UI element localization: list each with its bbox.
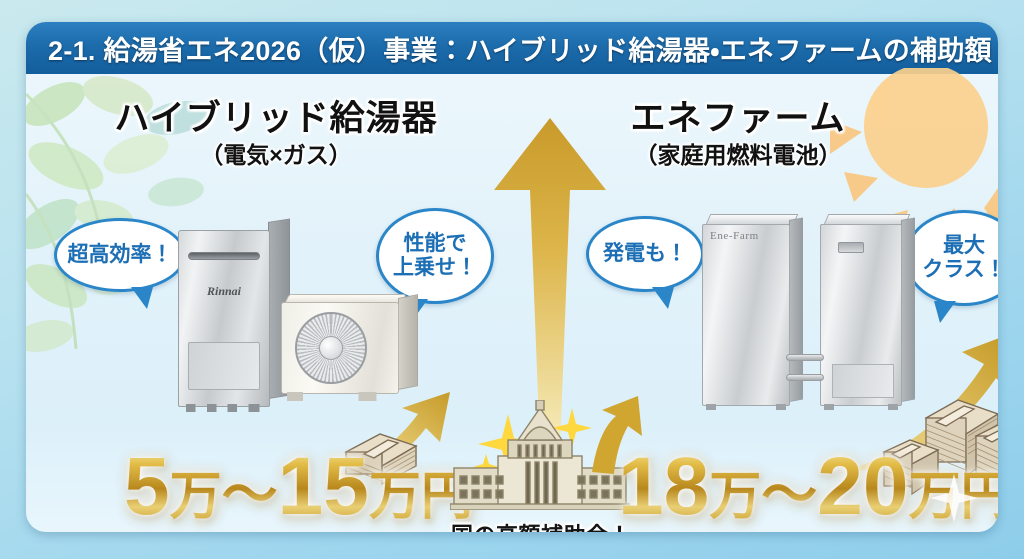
left-amount-from: 5	[124, 441, 170, 532]
left-subsidy-amount: 5万〜15万円	[124, 446, 473, 528]
enefarm-foot	[824, 404, 834, 410]
enefarm-foot	[706, 404, 716, 410]
heater-vent-slot	[188, 252, 260, 260]
hybrid-water-heater-image: Rinnai	[178, 222, 290, 407]
bubble-text: 超高効率！	[62, 243, 179, 267]
ene-farm-brand-label: Ene-Farm	[710, 230, 759, 242]
left-amount-to: 15	[278, 441, 369, 532]
bubble-text: 性能で 上乗せ！	[387, 232, 483, 280]
left-subheading-text: （電気×ガス）	[86, 143, 466, 168]
heat-pump-outdoor-unit-image	[281, 294, 419, 404]
right-amount-to: 20	[817, 441, 908, 532]
infographic-card: 2-1. 給湯省エネ2026（仮）事業：ハイブリッド給湯器・エネファームの補助額	[26, 22, 998, 532]
right-column-heading: エネファーム （家庭用燃料電池）	[548, 100, 928, 168]
left-heading-text: ハイブリッド給湯器	[86, 100, 466, 139]
left-amount-tilde: 〜	[222, 463, 278, 526]
speech-bubble-ultra-efficiency: 超高効率！	[54, 218, 186, 292]
enefarm-unit1-body	[702, 224, 790, 406]
right-subheading-text: （家庭用燃料電池）	[548, 143, 928, 168]
left-amount-from-unit: 万	[170, 468, 222, 526]
header-bar: 2-1. 給湯省エネ2026（仮）事業：ハイブリッド給湯器・エネファームの補助額	[26, 22, 998, 74]
right-amount-to-unit: 万円超	[908, 468, 998, 526]
heater-access-panel	[188, 342, 260, 390]
enefarm-pipe	[786, 354, 824, 361]
speech-bubble-performance-bonus: 性能で 上乗せ！	[376, 208, 494, 304]
speech-bubble-largest-class: 最大 クラス！	[904, 210, 998, 306]
right-amount-from: 18	[618, 441, 709, 532]
right-heading-text: エネファーム	[548, 100, 928, 139]
enefarm-foot	[776, 404, 786, 410]
enefarm-pipe	[786, 374, 824, 381]
rinnai-brand-label: Rinnai	[178, 284, 270, 299]
outdoor-unit-fan-hub	[319, 336, 343, 360]
bubble-text: 最大 クラス！	[916, 234, 998, 282]
outdoor-unit-side	[398, 294, 418, 390]
right-amount-from-unit: 万	[709, 468, 761, 526]
left-column-heading: ハイブリッド給湯器 （電気×ガス）	[86, 100, 466, 168]
speech-bubble-power-generation: 発電も！	[586, 216, 704, 292]
right-subsidy-amount: 18万〜20万円超	[618, 446, 998, 528]
right-amount-tilde: 〜	[761, 463, 817, 526]
heater-connections	[186, 404, 266, 412]
enefarm-vent	[838, 242, 864, 253]
page-title: 2-1. 給湯省エネ2026（仮）事業：ハイブリッド給湯器・エネファームの補助額	[48, 29, 992, 68]
bubble-text: 発電も！	[597, 242, 693, 266]
